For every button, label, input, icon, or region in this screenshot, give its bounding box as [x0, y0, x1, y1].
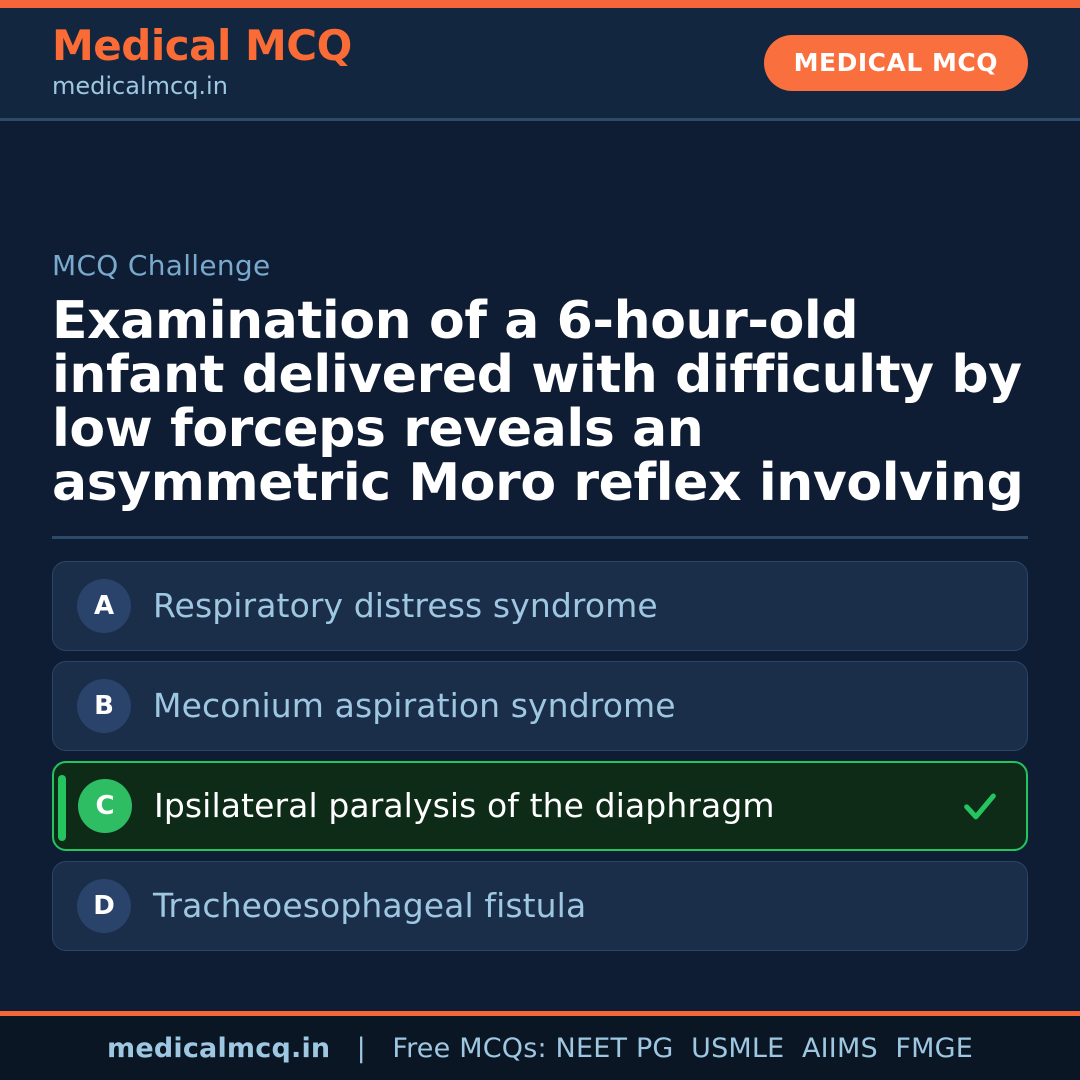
option-row-a[interactable]: A Respiratory distress syndrome: [52, 561, 1028, 651]
footer-tagline: Free MCQs: NEET PG USMLE AIIMS FMGE: [392, 1033, 973, 1064]
option-letter-badge: C: [78, 779, 132, 833]
brand-title: Medical MCQ: [52, 24, 352, 68]
correct-accent-bar: [58, 775, 66, 841]
option-row-d[interactable]: D Tracheoesophageal fistula: [52, 861, 1028, 951]
brand-badge[interactable]: MEDICAL MCQ: [764, 35, 1028, 91]
page-footer: medicalmcq.in | Free MCQs: NEET PG USMLE…: [0, 1016, 1080, 1080]
option-row-b[interactable]: B Meconium aspiration syndrome: [52, 661, 1028, 751]
options-list: A Respiratory distress syndrome B Meconi…: [52, 561, 1028, 951]
option-letter-badge: B: [77, 679, 131, 733]
option-letter-badge: A: [77, 579, 131, 633]
page-body: MCQ Challenge Examination of a 6-hour-ol…: [0, 121, 1080, 1011]
option-label: Tracheoesophageal fistula: [153, 887, 1003, 925]
question-divider: [52, 536, 1028, 539]
check-icon: [958, 784, 1002, 828]
brand-subtitle: medicalmcq.in: [52, 71, 352, 102]
footer-separator: |: [330, 1033, 392, 1064]
page-header: Medical MCQ medicalmcq.in MEDICAL MCQ: [0, 8, 1080, 121]
option-letter-badge: D: [77, 879, 131, 933]
section-eyebrow: MCQ Challenge: [52, 249, 1028, 282]
mcq-card: Medical MCQ medicalmcq.in MEDICAL MCQ MC…: [0, 0, 1080, 1080]
brand-block: Medical MCQ medicalmcq.in: [52, 24, 352, 102]
question-text: Examination of a 6-hour-old infant deliv…: [52, 294, 1027, 510]
option-label: Respiratory distress syndrome: [153, 587, 1003, 625]
top-accent-bar: [0, 0, 1080, 8]
option-label: Ipsilateral paralysis of the diaphragm: [154, 787, 946, 825]
footer-site-link[interactable]: medicalmcq.in: [107, 1033, 330, 1064]
option-label: Meconium aspiration syndrome: [153, 687, 1003, 725]
option-row-c[interactable]: C Ipsilateral paralysis of the diaphragm: [52, 761, 1028, 851]
